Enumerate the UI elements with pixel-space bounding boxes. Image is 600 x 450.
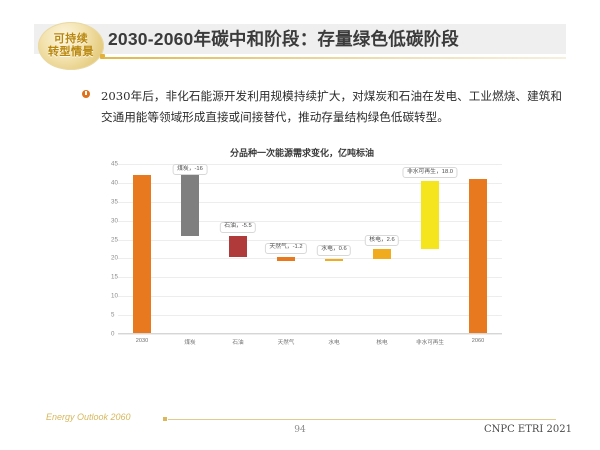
chart-bar bbox=[277, 257, 295, 262]
chart-data-label: 煤炭，-16 bbox=[173, 164, 208, 175]
gridline bbox=[118, 240, 502, 241]
chart-bar bbox=[469, 179, 487, 334]
x-axis-tick-label: 2030 bbox=[136, 338, 148, 344]
y-axis-tick-label: 30 bbox=[111, 217, 112, 224]
y-axis-tick-label: 10 bbox=[111, 293, 112, 300]
x-axis-tick-label: 水电 bbox=[328, 338, 339, 346]
slide-canvas: 可持续 转型情景 2030-2060年碳中和阶段：存量绿色低碳阶段 2030年后… bbox=[0, 0, 600, 450]
footer-brand: Energy Outlook 2060 bbox=[46, 412, 131, 422]
chart-bar bbox=[325, 259, 343, 261]
y-axis-tick-label: 40 bbox=[111, 179, 112, 186]
chart-bar bbox=[229, 236, 247, 257]
x-axis-tick-label: 煤炭 bbox=[184, 338, 195, 346]
chart-bar bbox=[373, 249, 391, 259]
title-rule bbox=[104, 57, 566, 59]
y-axis-tick-label: 35 bbox=[111, 198, 112, 205]
chart-axis-baseline bbox=[118, 333, 502, 334]
chart-data-label: 水电，0.6 bbox=[317, 245, 351, 256]
x-axis-tick-label: 2060 bbox=[472, 338, 484, 344]
y-axis-tick-label: 20 bbox=[111, 255, 112, 262]
gridline bbox=[118, 277, 502, 278]
x-axis-tick-label: 石油 bbox=[232, 338, 243, 346]
chart-card: 分品种一次能源需求变化，亿吨标油 051015202530354045 煤炭，-… bbox=[96, 140, 508, 362]
footer-org: CNPC ETRI 2021 bbox=[484, 424, 572, 435]
x-axis-tick-label: 天然气 bbox=[278, 338, 295, 346]
y-axis-tick-label: 5 bbox=[111, 312, 112, 319]
badge-text-wrap: 可持续 转型情景 bbox=[38, 22, 104, 70]
chart-data-label: 非水可再生，18.0 bbox=[402, 167, 457, 178]
gridline bbox=[118, 334, 502, 335]
bullet-clock-icon bbox=[82, 90, 90, 98]
gridline bbox=[118, 221, 502, 222]
footer-rule bbox=[168, 419, 556, 420]
chart-title: 分品种一次能源需求变化，亿吨标油 bbox=[96, 146, 508, 159]
gridline bbox=[118, 315, 502, 316]
sustainable-scenario-badge: 可持续 转型情景 bbox=[38, 22, 104, 70]
gridline bbox=[118, 202, 502, 203]
bullet-block: 2030年后，非化石能源开发利用规模持续扩大，对煤炭和石油在发电、工业燃烧、建筑… bbox=[82, 86, 562, 129]
y-axis-tick-label: 25 bbox=[111, 236, 112, 243]
badge-line-2: 转型情景 bbox=[48, 46, 94, 59]
chart-data-label: 天然气，-1.2 bbox=[265, 243, 307, 254]
chart-bar bbox=[421, 181, 439, 249]
chart-bar bbox=[133, 175, 151, 334]
chart-plot-area: 051015202530354045 煤炭，-16石油，-5.5天然气，-1.2… bbox=[118, 164, 502, 334]
y-axis-tick-label: 45 bbox=[111, 161, 112, 168]
gridline bbox=[118, 258, 502, 259]
y-axis-tick-label: 0 bbox=[111, 331, 112, 338]
y-axis-tick-label: 15 bbox=[111, 274, 112, 281]
gridline bbox=[118, 296, 502, 297]
gridline bbox=[118, 183, 502, 184]
footer-rule-dot bbox=[163, 417, 167, 421]
x-axis-tick-label: 核电 bbox=[376, 338, 387, 346]
chart-data-label: 石油，-5.5 bbox=[220, 222, 256, 233]
chart-data-label: 核电，2.6 bbox=[365, 235, 399, 246]
bullet-text: 2030年后，非化石能源开发利用规模持续扩大，对煤炭和石油在发电、工业燃烧、建筑… bbox=[101, 86, 562, 129]
chart-bar bbox=[181, 175, 199, 235]
page-title: 2030-2060年碳中和阶段：存量绿色低碳阶段 bbox=[108, 26, 459, 51]
badge-line-1: 可持续 bbox=[54, 33, 89, 46]
x-axis-tick-label: 非水可再生 bbox=[416, 338, 444, 346]
